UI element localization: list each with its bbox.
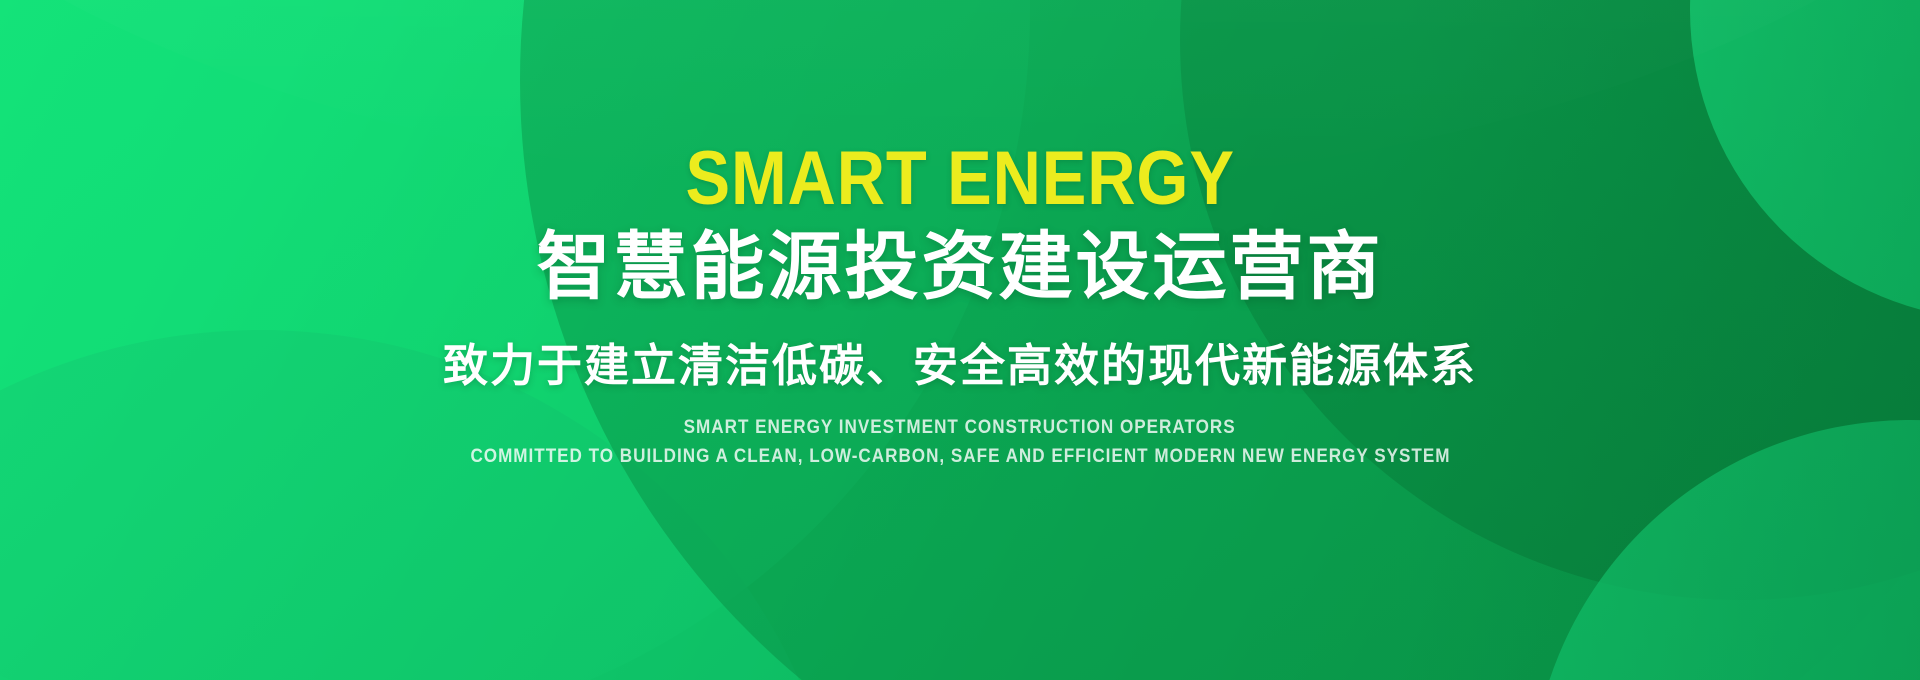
banner-content: SMART ENERGY 智慧能源投资建设运营商 致力于建立清洁低碳、安全高效的… [0, 0, 1920, 680]
banner-headline-chinese: 智慧能源投资建设运营商 [537, 224, 1384, 310]
banner-headline-english: SMART ENERGY [685, 140, 1234, 218]
hero-banner: SMART ENERGY 智慧能源投资建设运营商 致力于建立清洁低碳、安全高效的… [0, 0, 1920, 680]
banner-subheadline-chinese: 致力于建立清洁低碳、安全高效的现代新能源体系 [443, 338, 1477, 394]
banner-subheadline-english-line1: SMART ENERGY INVESTMENT CONSTRUCTION OPE… [684, 416, 1236, 440]
banner-subheadline-english-line2: COMMITTED TO BUILDING A CLEAN, LOW-CARBO… [470, 445, 1450, 469]
